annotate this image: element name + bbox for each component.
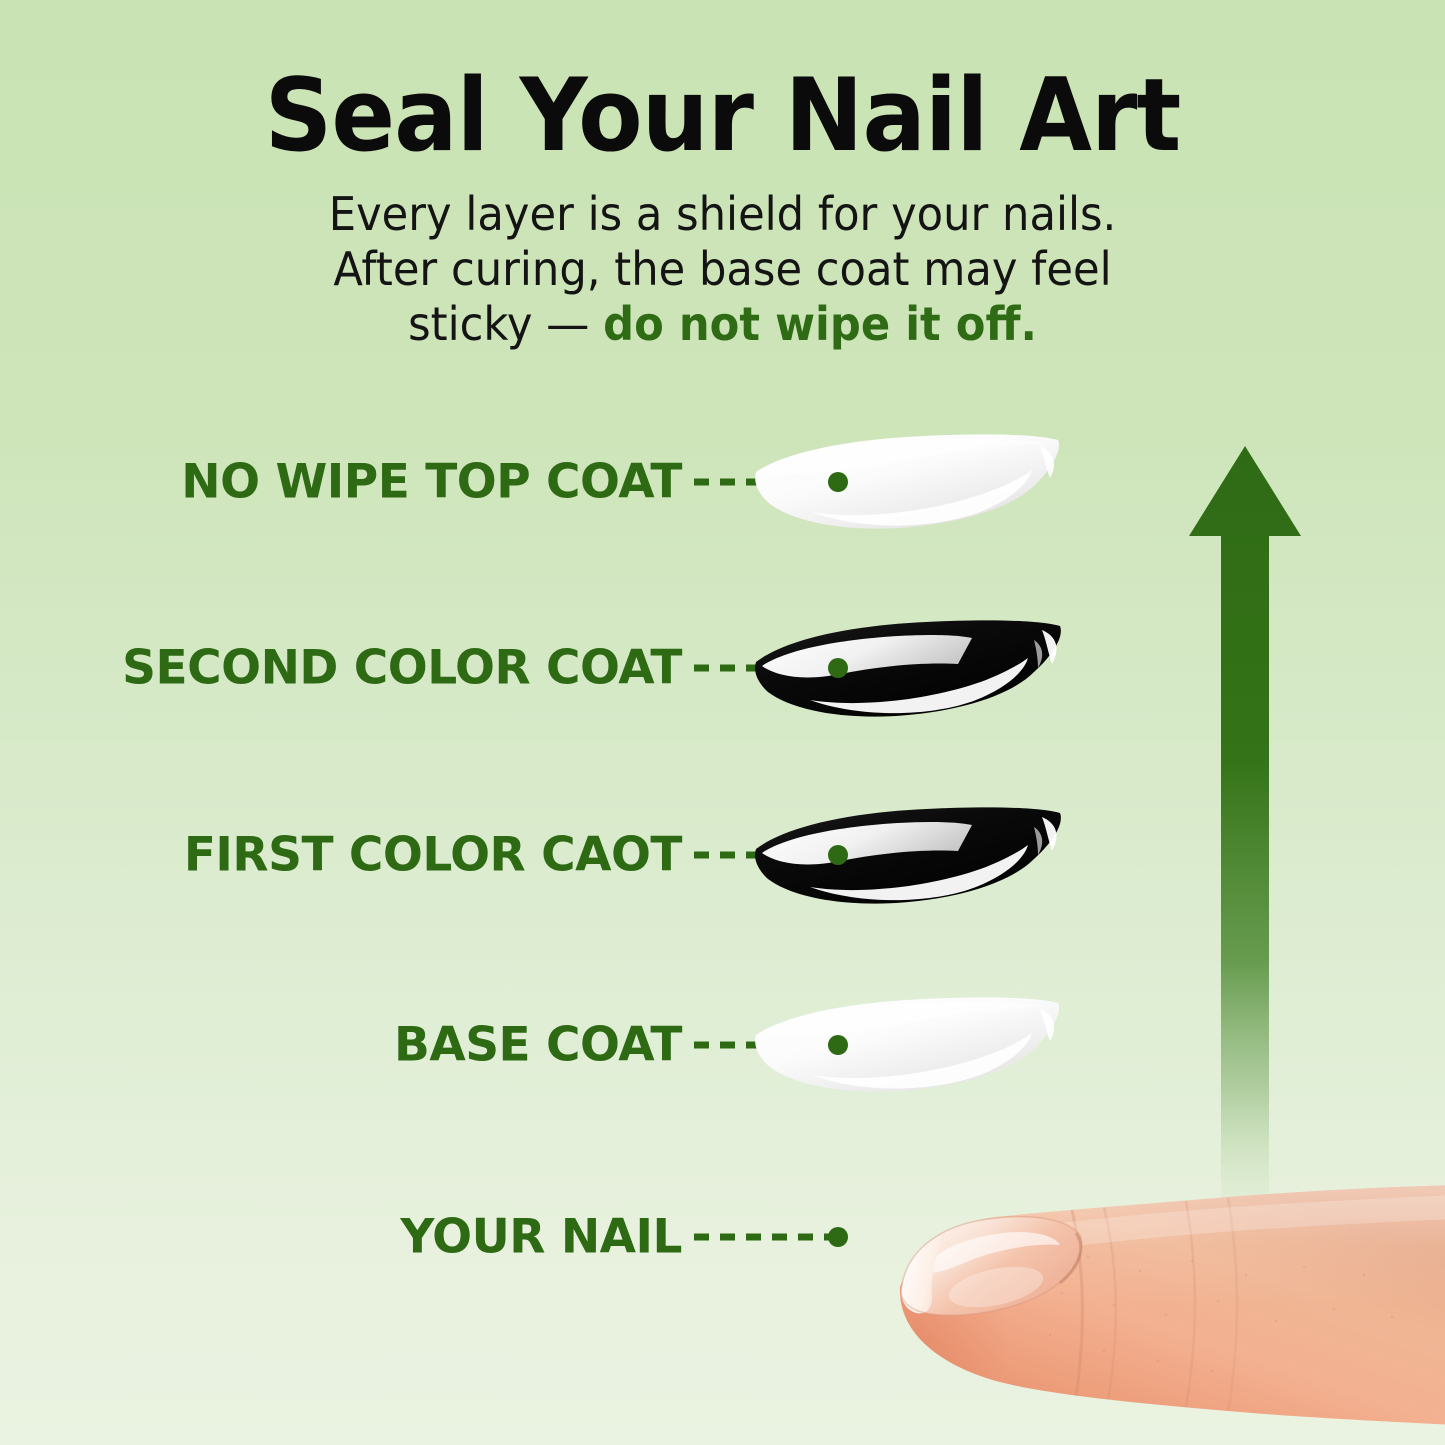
upward-build-up-arrow-icon	[1185, 440, 1305, 1230]
infographic-poster: Seal Your Nail Art Every layer is a shie…	[0, 0, 1445, 1445]
header-block: Seal Your Nail Art Every layer is a shie…	[0, 62, 1445, 351]
subtitle-warning-accent: do not wipe it off.	[603, 297, 1037, 351]
subtitle-line-1: Every layer is a shield for your nails.	[43, 187, 1401, 242]
nail-swatch-second-color-coat	[748, 614, 1068, 722]
layer-label-your-nail: YOUR NAIL	[400, 1210, 682, 1265]
nail-swatch-no-wipe-top-coat	[748, 428, 1068, 536]
page-subtitle: Every layer is a shield for your nails. …	[43, 187, 1401, 351]
leader-dot-no-wipe-top-coat	[828, 472, 848, 492]
finger-photo	[836, 1175, 1445, 1445]
leader-dot-second-color-coat	[828, 658, 848, 678]
nail-swatch-first-color-caot	[748, 801, 1068, 909]
leader-dot-base-coat	[828, 1035, 848, 1055]
subtitle-line-3: sticky — do not wipe it off.	[43, 297, 1401, 352]
layer-label-second-color-coat: SECOND COLOR COAT	[122, 641, 682, 696]
subtitle-line-3-plain: sticky —	[408, 297, 603, 351]
layer-label-first-color-caot: FIRST COLOR CAOT	[184, 828, 682, 883]
nail-swatch-base-coat	[748, 991, 1068, 1099]
subtitle-line-2: After curing, the base coat may feel	[43, 242, 1401, 297]
layer-label-no-wipe-top-coat: NO WIPE TOP COAT	[181, 455, 682, 510]
leader-dot-first-color-caot	[828, 845, 848, 865]
layer-label-base-coat: BASE COAT	[394, 1018, 682, 1073]
page-title: Seal Your Nail Art	[51, 62, 1395, 169]
leader-line-your-nail	[694, 1234, 834, 1241]
